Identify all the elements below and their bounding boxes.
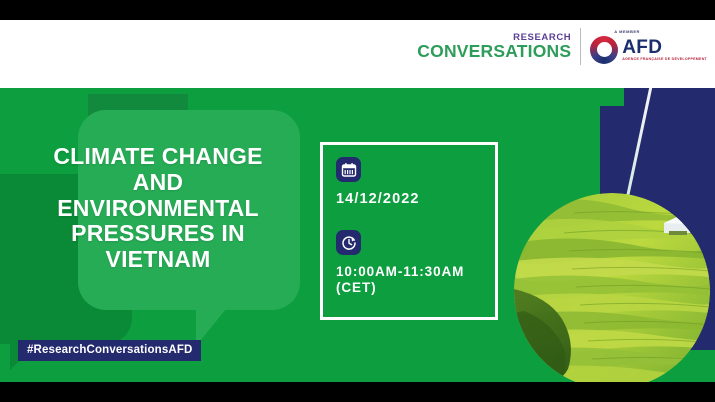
afd-tagline: AGENCE FRANÇAISE DE DÉVELOPPEMENT [622,58,707,62]
event-details-box: 14/12/2022 10:00AM-11:30AM (CET) [320,142,498,320]
calendar-glyph [341,162,357,178]
afd-ring-icon [590,36,618,64]
event-hashtag: #ResearchConversationsAFD [18,340,201,361]
title-line-2: AND [8,170,308,196]
afd-member-label: A MEMBER [614,30,640,34]
title-line-5: VIETNAM [8,247,308,273]
header-bar: RESEARCH CONVERSATIONS A MEMBER AFD AGEN… [0,20,715,88]
event-date-value: 14/12/2022 [336,191,495,208]
afd-logo-row: AFD AGENCE FRANÇAISE DE DÉVELOPPEMENT [590,36,707,64]
event-time-row: 10:00AM-11:30AM (CET) [336,230,495,296]
brand-line-conversations: CONVERSATIONS [417,43,571,61]
title-line-1: CLIMATE CHANGE [8,144,308,170]
calendar-icon [336,157,361,182]
logo-divider [580,28,581,65]
slide-body: CLIMATE CHANGE AND ENVIRONMENTAL PRESSUR… [0,88,715,382]
photo-svg [514,193,710,382]
letterbox-top-bar [0,0,715,20]
afd-logo: A MEMBER AFD AGENCE FRANÇAISE DE DÉVELOP… [590,30,707,64]
event-time-value: 10:00AM-11:30AM [336,264,495,280]
terraced-rice-fields-photo [514,193,710,382]
event-date-row: 14/12/2022 [336,157,495,208]
research-conversations-logo: RESEARCH CONVERSATIONS [417,33,571,61]
afd-text-group: AFD AGENCE FRANÇAISE DE DÉVELOPPEMENT [622,38,707,62]
event-timezone-value: (CET) [336,280,495,296]
clock-icon [336,230,361,255]
header-logo-group: RESEARCH CONVERSATIONS A MEMBER AFD AGEN… [417,28,707,65]
title-line-3: ENVIRONMENTAL [8,196,308,222]
title-line-4: PRESSURES IN [8,221,308,247]
afd-name: AFD [622,38,707,57]
presentation-slide: RESEARCH CONVERSATIONS A MEMBER AFD AGEN… [0,0,715,402]
page-title: CLIMATE CHANGE AND ENVIRONMENTAL PRESSUR… [8,144,308,273]
navy-panel-notch [600,88,624,106]
clock-glyph [341,235,357,251]
letterbox-bottom-bar [0,382,715,402]
